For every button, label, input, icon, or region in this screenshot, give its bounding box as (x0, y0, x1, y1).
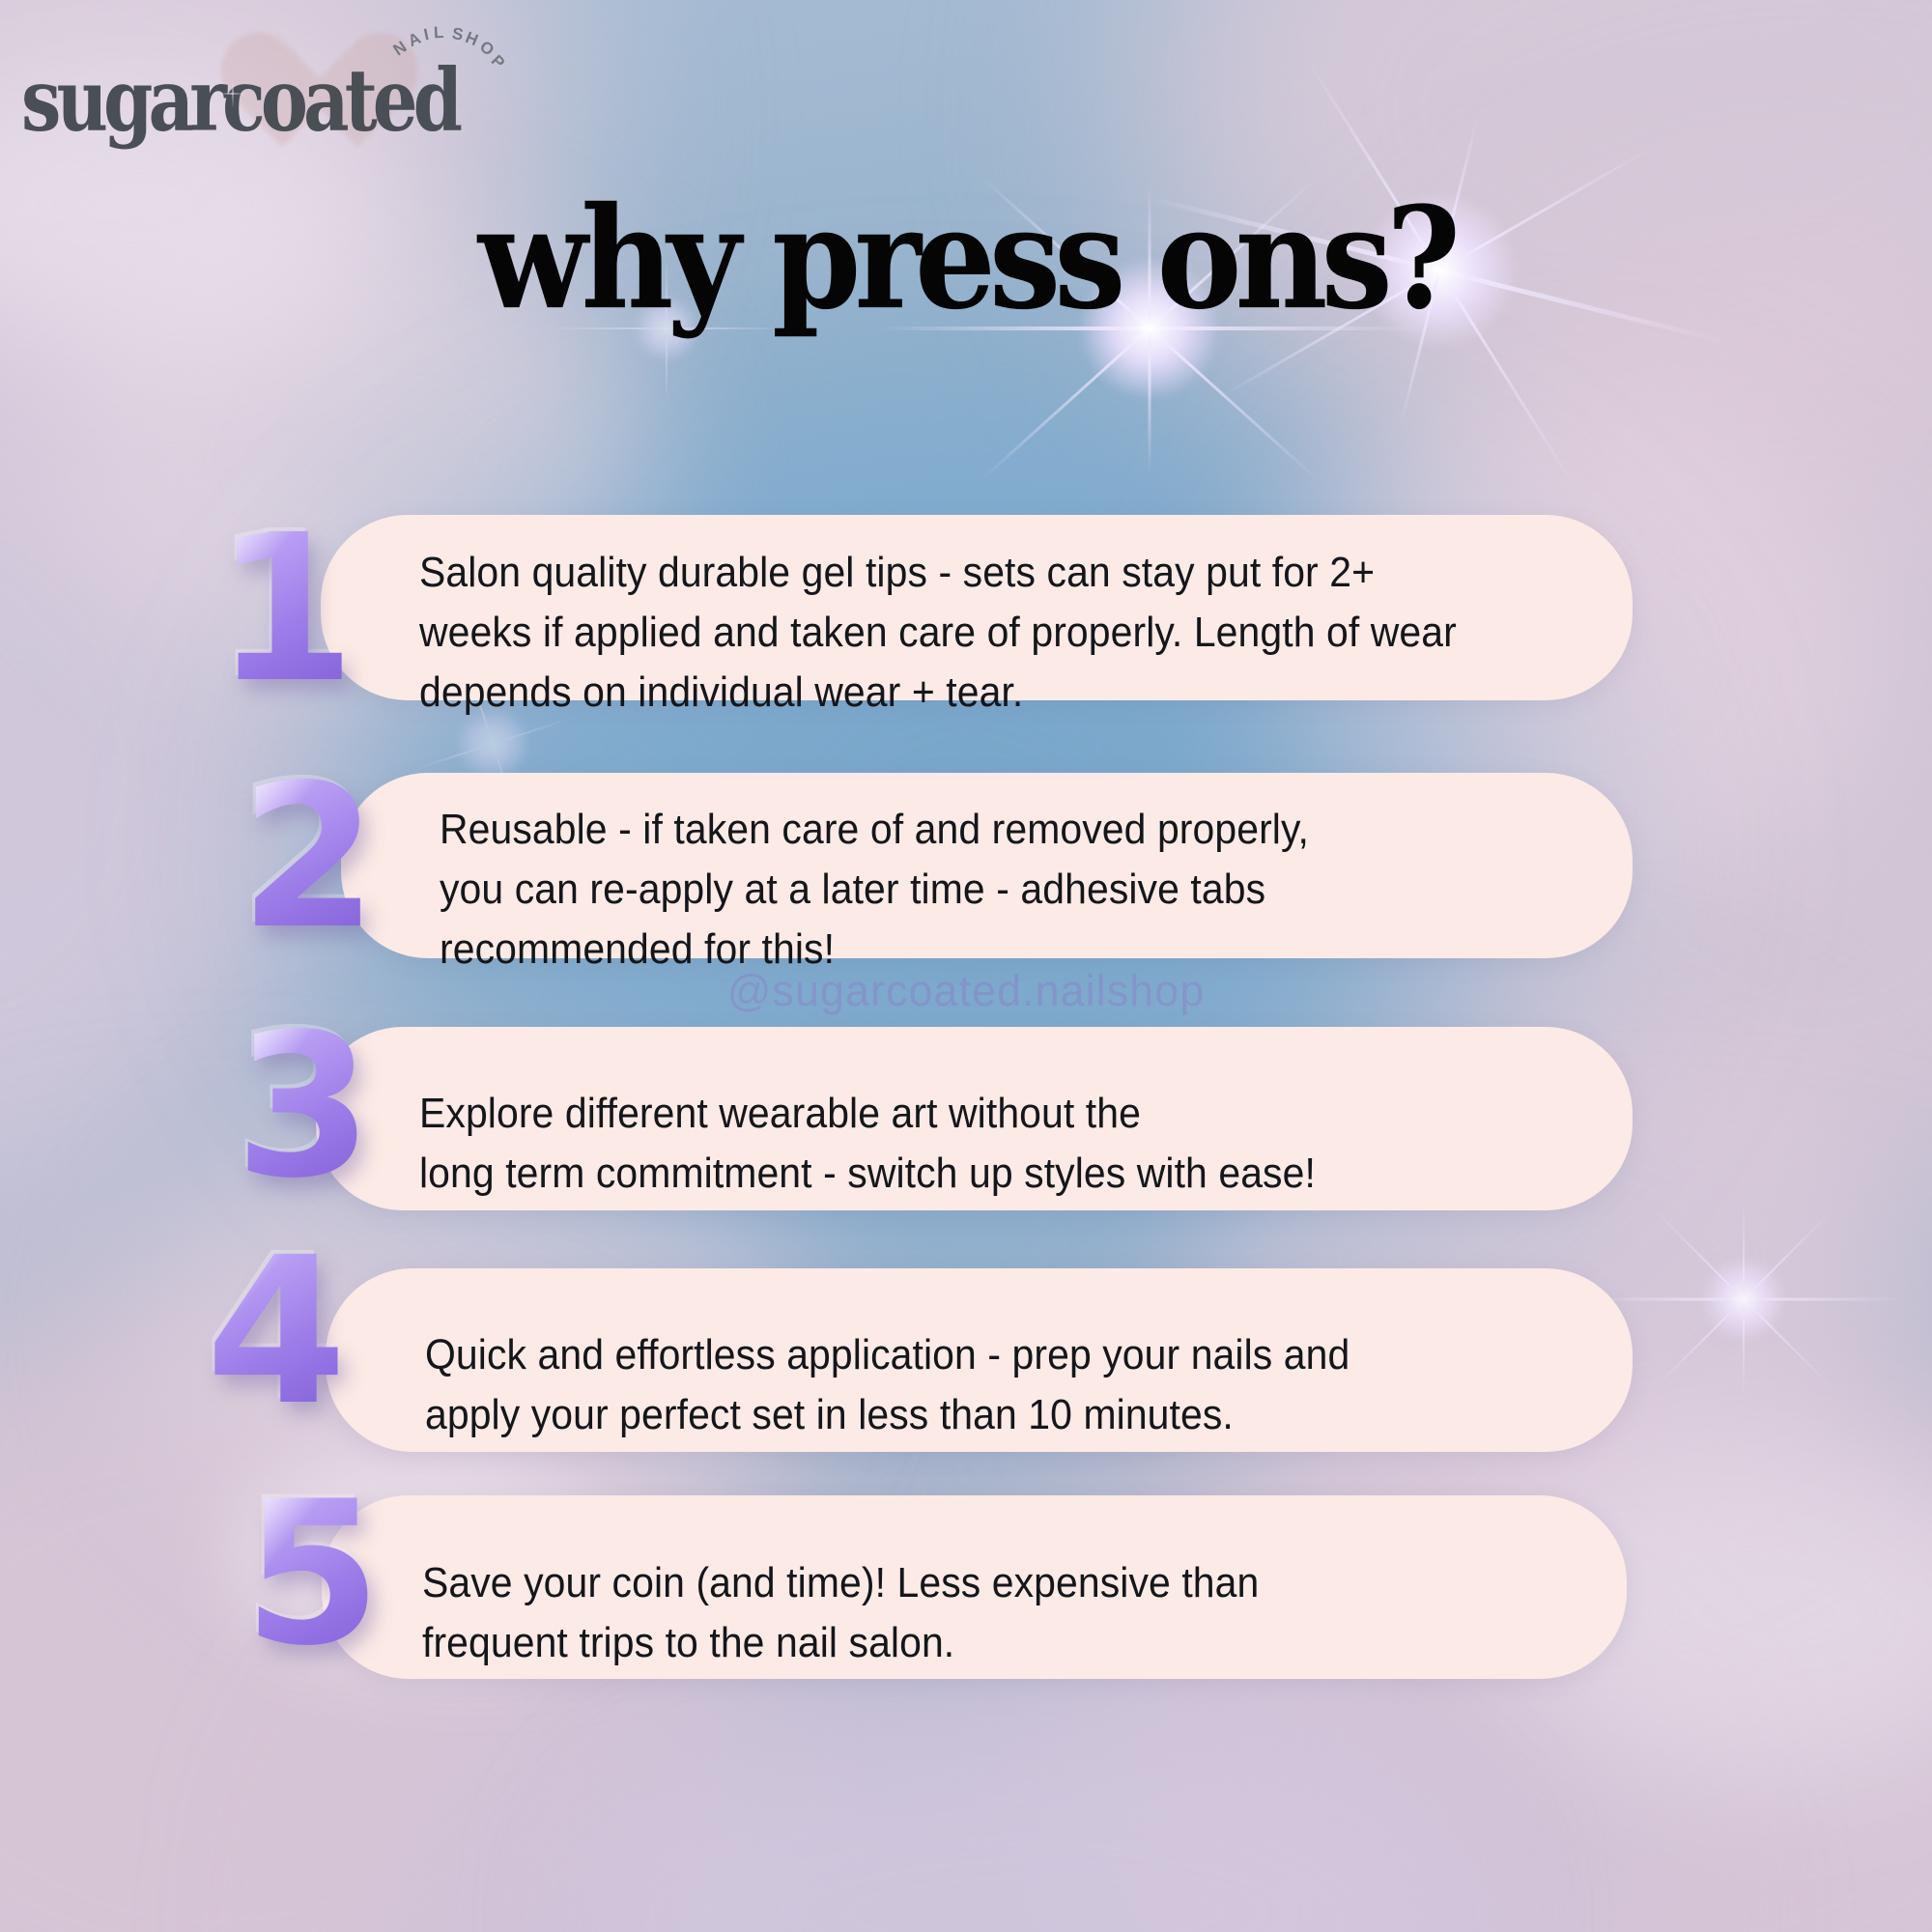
step-number: 1 1 (214, 508, 355, 711)
benefit-text: Reusable - if taken care of and removed … (440, 800, 1572, 980)
step-number: 2 2 (240, 759, 378, 957)
benefit-text: Save your coin (and time)! Less expensiv… (422, 1553, 1554, 1673)
benefit-text: Quick and effortless application - prep … (425, 1325, 1557, 1445)
benefits-list: 1 1 Salon quality durable gel tips - set… (0, 0, 1932, 1932)
step-number: 5 5 (243, 1476, 382, 1674)
step-number: 3 3 (235, 1009, 373, 1207)
benefit-text: Explore different wearable art without t… (419, 1084, 1551, 1204)
step-number: 4 4 (206, 1231, 347, 1434)
benefit-text: Salon quality durable gel tips - sets ca… (419, 543, 1569, 723)
